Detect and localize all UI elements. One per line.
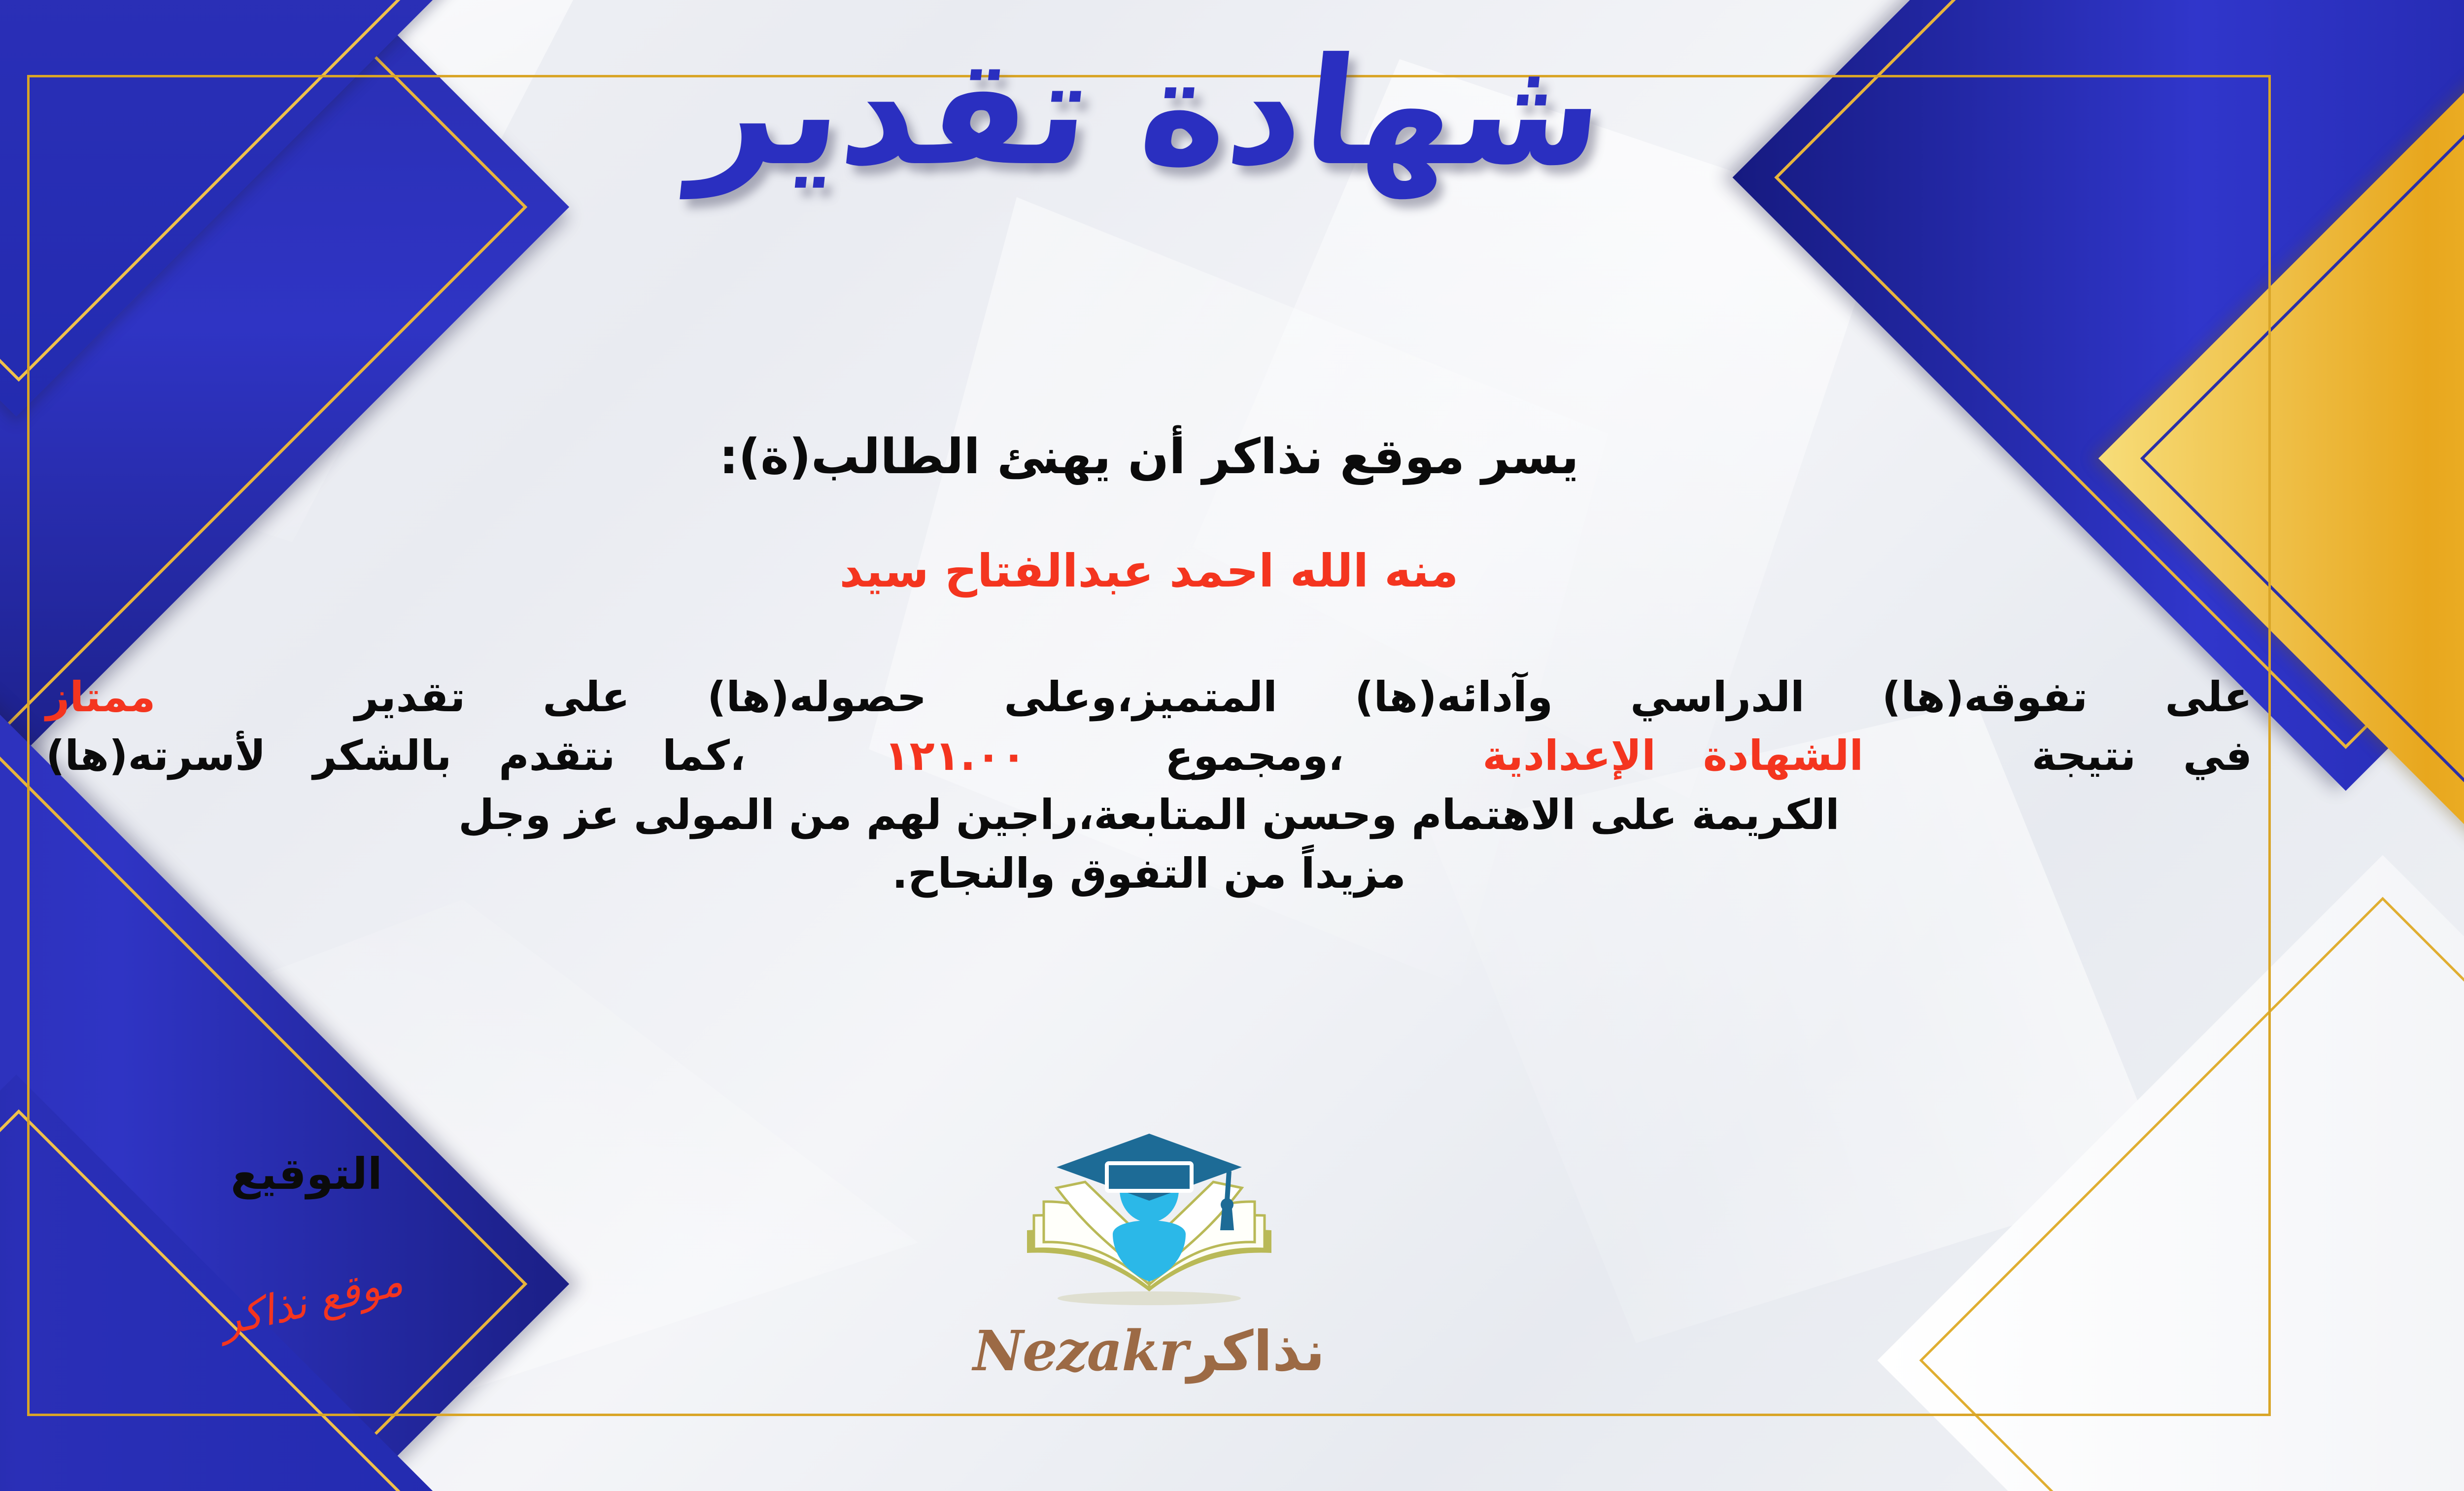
grade-value: ممتاز	[46, 673, 156, 721]
body-line-3: الكريمة على الاهتمام وحسن المتابعة،راجين…	[46, 786, 2252, 844]
logo-wordmark-latin: Nezakr	[973, 1319, 1187, 1384]
logo-wordmark: نذاكرNezakr	[973, 1319, 1325, 1384]
logo-graphic	[996, 1129, 1302, 1316]
signature-label: التوقيع	[231, 1148, 382, 1199]
total-score: ١٢١.٠٠	[884, 731, 1026, 780]
site-logo: نذاكرNezakr	[962, 1129, 1336, 1424]
body-line-4: مزيداً من التفوق والنجاح.	[46, 844, 2252, 903]
intro-text: يسر موقع نذاكر أن يهنئ الطالب(ة):	[0, 429, 2464, 485]
body-line-2: في نتيجة الشهادة الإعدادية ،ومجموع ١٢١.٠…	[46, 727, 2252, 785]
body-line-1: على تفوقه(ها) الدراسي وآدائه(ها) المتميز…	[46, 668, 2252, 727]
body-line-2-prefix: في نتيجة	[2032, 731, 2252, 780]
certificate-body: على تفوقه(ها) الدراسي وآدائه(ها) المتميز…	[46, 668, 2252, 903]
signature-mark: موقع نذاكر	[215, 1256, 407, 1345]
student-name: منه الله احمد عبدالفتاح سيد	[0, 545, 2464, 597]
exam-name: الشهادة الإعدادية	[1482, 731, 1863, 780]
body-line-2-suffix: ،كما نتقدم بالشكر لأسرته(ها)	[46, 731, 746, 780]
certificate-canvas: شهادة تقدير يسر موقع نذاكر أن يهنئ الطال…	[0, 0, 2464, 1491]
logo-mark	[996, 1129, 1302, 1316]
logo-wordmark-arabic: نذاكر	[1187, 1319, 1325, 1384]
body-line-1-text: على تفوقه(ها) الدراسي وآدائه(ها) المتميز…	[355, 673, 2252, 721]
certificate-title: شهادة تقدير	[0, 20, 2464, 205]
body-line-2-total-label: ،ومجموع	[1165, 731, 1344, 780]
